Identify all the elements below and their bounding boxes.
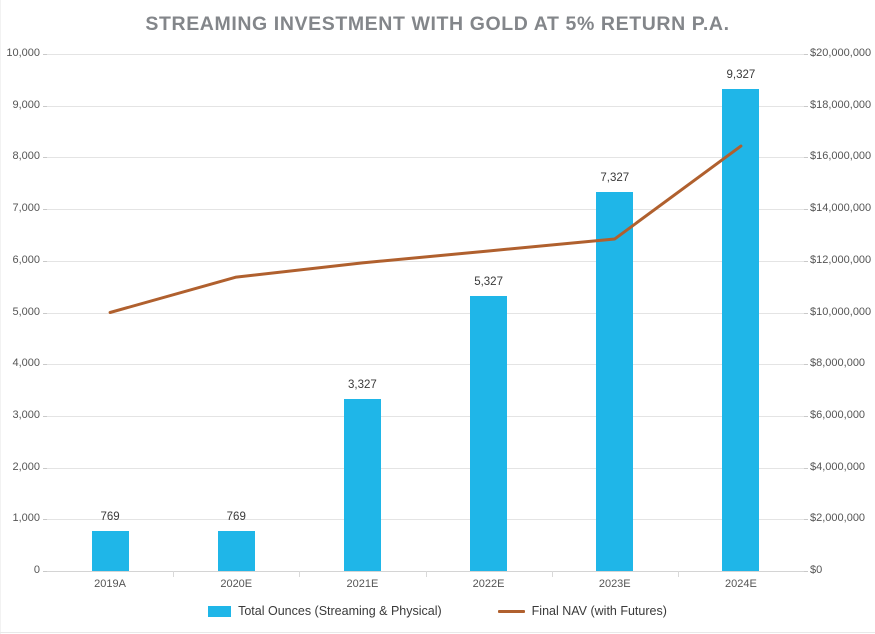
- x-axis-tick-label: 2019A: [47, 578, 173, 590]
- y-axis-right-tick-mark: [804, 468, 808, 469]
- legend-bottom-rule: [0, 632, 875, 633]
- chart-title: STREAMING INVESTMENT WITH GOLD AT 5% RET…: [0, 13, 875, 36]
- legend-bar-swatch-icon: [208, 606, 231, 617]
- y-axis-right-tick-label: $8,000,000: [810, 357, 865, 369]
- y-axis-left-tick-label: 8,000: [0, 150, 40, 162]
- y-axis-right-tick-label: $4,000,000: [810, 461, 865, 473]
- gridline: [47, 416, 804, 417]
- y-axis-left-tick-label: 10,000: [0, 47, 40, 59]
- y-axis-right-tick-label: $2,000,000: [810, 512, 865, 524]
- bar-data-label: 7,327: [575, 172, 655, 184]
- y-axis-left-tick-mark: [43, 261, 47, 262]
- y-axis-right-tick-mark: [804, 157, 808, 158]
- bar-total-ounces[interactable]: [470, 296, 507, 571]
- y-axis-right-tick-mark: [804, 571, 808, 572]
- x-axis-separator: [299, 571, 300, 577]
- y-axis-right-tick-mark: [804, 313, 808, 314]
- gridline: [47, 209, 804, 210]
- legend-line-swatch-icon: [498, 610, 525, 613]
- y-axis-left-tick-mark: [43, 416, 47, 417]
- y-axis-left-tick-label: 2,000: [0, 461, 40, 473]
- y-axis-left-tick-label: 1,000: [0, 512, 40, 524]
- y-axis-left-tick-mark: [43, 313, 47, 314]
- y-axis-left-tick-label: 0: [0, 564, 40, 576]
- bar-total-ounces[interactable]: [722, 89, 759, 571]
- y-axis-right-tick-label: $10,000,000: [810, 306, 871, 318]
- y-axis-right-tick-mark: [804, 209, 808, 210]
- bar-data-label: 9,327: [701, 69, 781, 81]
- y-axis-right-tick-mark: [804, 519, 808, 520]
- y-axis-right-tick-mark: [804, 54, 808, 55]
- gridline: [47, 54, 804, 55]
- gridline: [47, 468, 804, 469]
- y-axis-left-tick-mark: [43, 468, 47, 469]
- y-axis-left-tick-mark: [43, 519, 47, 520]
- y-axis-left-tick-label: 6,000: [0, 254, 40, 266]
- y-axis-left-tick-mark: [43, 209, 47, 210]
- legend-label-total-ounces: Total Ounces (Streaming & Physical): [238, 604, 442, 618]
- y-axis-right-tick-label: $6,000,000: [810, 409, 865, 421]
- y-axis-left-tick-label: 5,000: [0, 306, 40, 318]
- x-axis-separator: [678, 571, 679, 577]
- chart-container: STREAMING INVESTMENT WITH GOLD AT 5% RET…: [0, 0, 875, 634]
- bar-total-ounces[interactable]: [596, 192, 633, 571]
- y-axis-left-tick-mark: [43, 157, 47, 158]
- gridline: [47, 261, 804, 262]
- y-axis-right-tick-mark: [804, 416, 808, 417]
- y-axis-left-tick-label: 3,000: [0, 409, 40, 421]
- gridline: [47, 519, 804, 520]
- y-axis-right-tick-label: $18,000,000: [810, 99, 871, 111]
- bar-total-ounces[interactable]: [344, 399, 381, 571]
- bar-total-ounces[interactable]: [218, 531, 255, 571]
- y-axis-right-tick-mark: [804, 261, 808, 262]
- y-axis-right-tick-mark: [804, 364, 808, 365]
- legend-label-final-nav: Final NAV (with Futures): [532, 604, 667, 618]
- bar-data-label: 3,327: [322, 379, 402, 391]
- y-axis-right-tick-label: $20,000,000: [810, 47, 871, 59]
- x-axis-separator: [173, 571, 174, 577]
- x-axis-tick-label: 2022E: [426, 578, 552, 590]
- gridline: [47, 106, 804, 107]
- y-axis-left-tick-label: 9,000: [0, 99, 40, 111]
- bar-data-label: 769: [70, 511, 150, 523]
- y-axis-right-tick-mark: [804, 106, 808, 107]
- chart-legend: Total Ounces (Streaming & Physical) Fina…: [0, 604, 875, 618]
- y-axis-left-tick-mark: [43, 571, 47, 572]
- x-axis-tick-label: 2020E: [173, 578, 299, 590]
- gridline: [47, 364, 804, 365]
- y-axis-left-tick-mark: [43, 106, 47, 107]
- x-axis-tick-label: 2023E: [552, 578, 678, 590]
- legend-item-total-ounces[interactable]: Total Ounces (Streaming & Physical): [208, 604, 442, 618]
- gridline: [47, 313, 804, 314]
- y-axis-right-tick-label: $0: [810, 564, 822, 576]
- y-axis-left-tick-mark: [43, 54, 47, 55]
- x-axis-tick-label: 2024E: [678, 578, 804, 590]
- y-axis-right-tick-label: $12,000,000: [810, 254, 871, 266]
- y-axis-left-tick-mark: [43, 364, 47, 365]
- bar-total-ounces[interactable]: [92, 531, 129, 571]
- x-axis-separator: [426, 571, 427, 577]
- bar-data-label: 769: [196, 511, 276, 523]
- y-axis-right-tick-label: $16,000,000: [810, 150, 871, 162]
- x-axis-separator: [552, 571, 553, 577]
- y-axis-right-tick-label: $14,000,000: [810, 202, 871, 214]
- bar-data-label: 5,327: [449, 276, 529, 288]
- legend-item-final-nav[interactable]: Final NAV (with Futures): [498, 604, 667, 618]
- y-axis-left-tick-label: 7,000: [0, 202, 40, 214]
- gridline: [47, 157, 804, 158]
- y-axis-left-tick-label: 4,000: [0, 357, 40, 369]
- plot-area: [47, 54, 804, 571]
- x-axis-tick-label: 2021E: [299, 578, 425, 590]
